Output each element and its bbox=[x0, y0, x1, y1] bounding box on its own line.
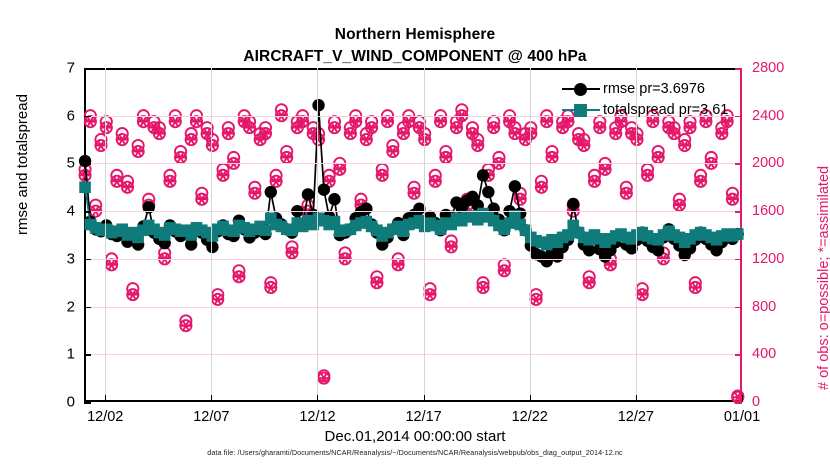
obs-assimilated-marker bbox=[111, 176, 122, 187]
legend-marker-totalspread bbox=[562, 101, 600, 119]
y-axis-right-label: # of obs: o=possible; *=assimilated bbox=[816, 166, 830, 390]
obs-assimilated-marker bbox=[621, 188, 632, 199]
y-tick-label-right: 400 bbox=[752, 346, 776, 362]
obs-assimilated-marker bbox=[674, 200, 685, 211]
obs-assimilated-marker bbox=[472, 140, 483, 151]
tick-left bbox=[84, 116, 91, 118]
obs-assimilated-marker bbox=[138, 116, 149, 127]
gridline-horizontal bbox=[84, 259, 742, 260]
tick-right bbox=[735, 307, 742, 309]
obs-assimilated-marker bbox=[345, 128, 356, 139]
tick-left bbox=[84, 163, 91, 165]
y-tick-label-right: 2000 bbox=[752, 155, 784, 171]
totalspread-point bbox=[79, 181, 91, 193]
obs-assimilated-marker bbox=[361, 134, 372, 145]
obs-assimilated-marker bbox=[690, 282, 701, 293]
tick-left bbox=[84, 307, 91, 309]
obs-assimilated-marker bbox=[127, 289, 138, 300]
obs-assimilated-marker bbox=[599, 164, 610, 175]
obs-assimilated-marker bbox=[223, 128, 234, 139]
tick-bottom bbox=[530, 395, 531, 402]
tick-right bbox=[735, 68, 742, 70]
y-tick-label-left: 3 bbox=[67, 250, 75, 267]
rmse-point bbox=[482, 186, 494, 198]
tick-right bbox=[735, 211, 742, 213]
rmse-point bbox=[652, 244, 664, 256]
tick-bottom bbox=[211, 395, 212, 402]
obs-assimilated-marker bbox=[85, 116, 96, 127]
legend-marker-rmse bbox=[562, 80, 600, 98]
obs-assimilated-marker bbox=[536, 182, 547, 193]
obs-assimilated-marker bbox=[594, 122, 605, 133]
gridline-vertical bbox=[105, 68, 106, 402]
tick-bottom bbox=[742, 395, 743, 402]
tick-right bbox=[735, 259, 742, 261]
obs-assimilated-marker bbox=[509, 128, 520, 139]
legend-label-totalspread: totalspread pr=3.61 bbox=[603, 102, 728, 118]
rmse-point bbox=[318, 183, 330, 195]
x-tick-label: 12/17 bbox=[405, 409, 441, 425]
obs-assimilated-marker bbox=[377, 170, 388, 181]
obs-assimilated-marker bbox=[695, 176, 706, 187]
gridline-horizontal bbox=[84, 307, 742, 308]
obs-assimilated-marker bbox=[329, 122, 340, 133]
x-tick-label: 12/27 bbox=[618, 409, 654, 425]
obs-assimilated-marker bbox=[435, 116, 446, 127]
tick-right bbox=[735, 402, 742, 404]
gridline-vertical bbox=[211, 68, 212, 402]
y-tick-label-left: 1 bbox=[67, 346, 75, 363]
totalspread-point bbox=[732, 228, 744, 240]
obs-assimilated-marker bbox=[642, 170, 653, 181]
legend: rmse pr=3.6976 totalspread pr=3.61 bbox=[562, 78, 728, 120]
obs-assimilated-marker bbox=[589, 176, 600, 187]
obs-assimilated-marker bbox=[531, 294, 542, 305]
tick-bottom bbox=[105, 395, 106, 402]
obs-assimilated-marker bbox=[440, 152, 451, 163]
gridline-horizontal bbox=[84, 354, 742, 355]
x-tick-label: 12/22 bbox=[512, 409, 548, 425]
y-tick-label-left: 6 bbox=[67, 107, 75, 124]
obs-assimilated-marker bbox=[175, 152, 186, 163]
obs-assimilated-marker bbox=[430, 176, 441, 187]
y-tick-label-left: 7 bbox=[67, 60, 75, 77]
obs-assimilated-marker bbox=[477, 282, 488, 293]
obs-assimilated-marker bbox=[488, 122, 499, 133]
tick-bottom bbox=[317, 395, 318, 402]
obs-assimilated-marker bbox=[207, 140, 218, 151]
obs-assimilated-marker bbox=[424, 289, 435, 300]
obs-assimilated-marker bbox=[408, 188, 419, 199]
obs-series bbox=[79, 110, 743, 403]
obs-assimilated-marker bbox=[117, 134, 128, 145]
totalspread-point bbox=[260, 224, 272, 236]
legend-label-rmse: rmse pr=3.6976 bbox=[603, 81, 705, 97]
tick-right bbox=[735, 354, 742, 356]
y-tick-label-left: 4 bbox=[67, 203, 75, 220]
tick-left bbox=[84, 402, 91, 404]
y-tick-label-right: 2800 bbox=[752, 60, 784, 76]
obs-assimilated-marker bbox=[286, 247, 297, 258]
y-tick-label-left: 2 bbox=[67, 298, 75, 315]
obs-assimilated-marker bbox=[186, 134, 197, 145]
obs-assimilated-marker bbox=[546, 152, 557, 163]
obs-assimilated-marker bbox=[133, 146, 144, 157]
obs-assimilated-marker bbox=[387, 146, 398, 157]
tick-right bbox=[735, 116, 742, 118]
y-tick-label-right: 0 bbox=[752, 394, 760, 410]
obs-assimilated-marker bbox=[233, 271, 244, 282]
y-axis-left-label: rmse and totalspread bbox=[14, 94, 31, 235]
obs-assimilated-marker bbox=[191, 116, 202, 127]
obs-assimilated-marker bbox=[249, 188, 260, 199]
title-line-1: Northern Hemisphere bbox=[0, 24, 830, 46]
obs-assimilated-marker bbox=[164, 176, 175, 187]
chart-page: Northern Hemisphere AIRCRAFT_V_WIND_COMP… bbox=[0, 0, 830, 470]
obs-assimilated-marker bbox=[716, 128, 727, 139]
y-tick-label-left: 0 bbox=[67, 394, 75, 411]
obs-assimilated-marker bbox=[727, 194, 738, 205]
obs-assimilated-marker bbox=[270, 176, 281, 187]
x-tick-label: 12/12 bbox=[299, 409, 335, 425]
y-tick-label-left: 5 bbox=[67, 155, 75, 172]
rmse-point bbox=[265, 186, 277, 198]
obs-assimilated-marker bbox=[610, 128, 621, 139]
obs-assimilated-marker bbox=[334, 164, 345, 175]
gridline-horizontal bbox=[84, 163, 742, 164]
rmse-point bbox=[206, 241, 218, 253]
obs-assimilated-marker bbox=[180, 320, 191, 331]
obs-assimilated-marker bbox=[679, 140, 690, 151]
obs-assimilated-marker bbox=[371, 277, 382, 288]
obs-assimilated-marker bbox=[637, 289, 648, 300]
tick-left bbox=[84, 354, 91, 356]
obs-assimilated-marker bbox=[541, 116, 552, 127]
gridline-vertical bbox=[317, 68, 318, 402]
obs-assimilated-marker bbox=[451, 122, 462, 133]
rmse-point bbox=[509, 180, 521, 192]
tick-bottom bbox=[424, 395, 425, 402]
y-tick-label-right: 2400 bbox=[752, 108, 784, 124]
rmse-point bbox=[567, 198, 579, 210]
tick-left bbox=[84, 211, 91, 213]
tick-bottom bbox=[636, 395, 637, 402]
obs-assimilated-marker bbox=[419, 134, 430, 145]
y-tick-label-right: 800 bbox=[752, 299, 776, 315]
rmse-point bbox=[477, 169, 489, 181]
obs-assimilated-marker bbox=[653, 152, 664, 163]
obs-assimilated-marker bbox=[217, 170, 228, 181]
obs-assimilated-marker bbox=[382, 116, 393, 127]
y-tick-label-right: 1200 bbox=[752, 251, 784, 267]
rmse-point bbox=[583, 244, 595, 256]
chart-title: Northern Hemisphere AIRCRAFT_V_WIND_COMP… bbox=[0, 24, 830, 68]
x-tick-label: 01/01 bbox=[724, 409, 760, 425]
data-file-note: data file: /Users/gharamti/Documents/NCA… bbox=[0, 448, 830, 457]
gridline-horizontal bbox=[84, 211, 742, 212]
x-tick-label: 12/02 bbox=[87, 409, 123, 425]
obs-assimilated-marker bbox=[446, 241, 457, 252]
gridline-vertical bbox=[424, 68, 425, 402]
y-tick-label-right: 1600 bbox=[752, 203, 784, 219]
tick-left bbox=[84, 68, 91, 70]
title-line-2: AIRCRAFT_V_WIND_COMPONENT @ 400 hPa bbox=[0, 46, 830, 68]
obs-assimilated-marker bbox=[281, 152, 292, 163]
obs-assimilated-marker bbox=[684, 122, 695, 133]
rmse-point bbox=[328, 193, 340, 205]
rmse-point bbox=[360, 203, 372, 215]
obs-assimilated-marker bbox=[584, 277, 595, 288]
obs-assimilated-marker bbox=[106, 259, 117, 270]
obs-series bbox=[79, 104, 743, 401]
obs-assimilated-marker bbox=[393, 259, 404, 270]
gridline-vertical bbox=[530, 68, 531, 402]
obs-assimilated-marker bbox=[212, 294, 223, 305]
obs-assimilated-marker bbox=[265, 282, 276, 293]
rmse-point bbox=[79, 155, 91, 167]
obs-assimilated-marker bbox=[101, 122, 112, 133]
tick-left bbox=[84, 259, 91, 261]
obs-assimilated-marker bbox=[398, 128, 409, 139]
x-axis-label: Dec.01,2014 00:00:00 start bbox=[0, 428, 830, 445]
legend-item-rmse[interactable]: rmse pr=3.6976 bbox=[562, 78, 728, 99]
rmse-point bbox=[312, 99, 324, 111]
obs-assimilated-marker bbox=[170, 116, 181, 127]
rmse-point bbox=[302, 188, 314, 200]
x-tick-label: 12/07 bbox=[193, 409, 229, 425]
obs-assimilated-marker bbox=[79, 170, 90, 181]
legend-item-totalspread[interactable]: totalspread pr=3.61 bbox=[562, 99, 728, 120]
obs-assimilated-marker bbox=[499, 265, 510, 276]
obs-assimilated-marker bbox=[196, 194, 207, 205]
tick-right bbox=[735, 163, 742, 165]
obs-assimilated-marker bbox=[122, 182, 133, 193]
